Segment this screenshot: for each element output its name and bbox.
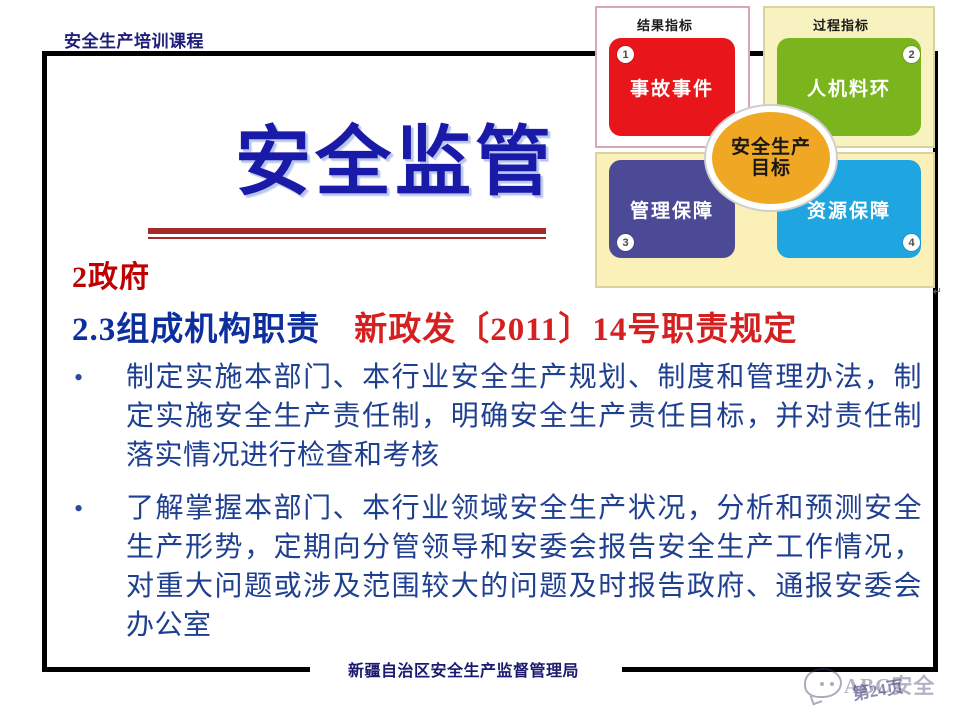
- course-header-label: 安全生产培训课程: [64, 27, 204, 52]
- list-item: • 了解掌握本部门、本行业领域安全生产状况，分析和预测安全生产形势，定期向分管领…: [72, 489, 922, 645]
- diagram-caption-result: 结果指标: [637, 15, 693, 34]
- bullet-marker-icon: •: [72, 358, 126, 397]
- slide-canvas: 安全生产培训课程 安全监管 2政府 2.3组成机构职责新政发〔2011〕14号职…: [0, 0, 960, 720]
- wechat-icon-eye-left: [820, 682, 824, 686]
- diagram-number-badge-4: 4: [903, 234, 920, 251]
- list-item: • 制定实施本部门、本行业安全生产规划、制度和管理办法，制定实施安全生产责任制，…: [72, 358, 922, 475]
- frame-border-bottom-left: [42, 667, 310, 672]
- diagram-center-line1: 安全生产: [731, 137, 811, 158]
- document-reference: 新政发〔2011〕14号职责规定: [354, 312, 797, 348]
- frame-border-left: [42, 51, 47, 672]
- diagram-caption-process: 过程指标: [813, 15, 869, 34]
- diagram-center-line2: 目标: [751, 158, 791, 179]
- diagram-number-badge-1: 1: [617, 46, 634, 63]
- watermark: ABC安全: [800, 662, 940, 706]
- bullet-text: 了解掌握本部门、本行业领域安全生产状况，分析和预测安全生产形势，定期向分管领导和…: [126, 489, 922, 645]
- subsection-heading: 2.3组成机构职责: [72, 312, 320, 348]
- safety-goal-diagram: 结果指标 过程指标 事故事件 人机料环 管理保障 资源保障 1 2 3 4 安全…: [565, 2, 940, 294]
- wechat-icon: [804, 668, 842, 698]
- title-underline-thin: [148, 237, 546, 239]
- diagram-number-badge-3: 3: [617, 234, 634, 251]
- watermark-label: ABC安全: [844, 670, 935, 700]
- subsection-heading-row: 2.3组成机构职责新政发〔2011〕14号职责规定: [72, 302, 797, 350]
- bullet-text: 制定实施本部门、本行业安全生产规划、制度和管理办法，制定实施安全生产责任制，明确…: [126, 358, 922, 475]
- bullet-list: • 制定实施本部门、本行业安全生产规划、制度和管理办法，制定实施安全生产责任制，…: [72, 358, 922, 659]
- title-underline-thick: [148, 228, 546, 234]
- wechat-icon-eye-right: [830, 682, 834, 686]
- page-title: 安全监管: [235, 100, 555, 210]
- section-heading: 2政府: [72, 252, 150, 296]
- diagram-center-goal: 安全生产 目标: [706, 106, 836, 210]
- footer-organization: 新疆自治区安全生产监督管理局: [348, 657, 579, 681]
- diagram-number-badge-2: 2: [903, 46, 920, 63]
- bullet-marker-icon: •: [72, 489, 126, 528]
- diagram-corner-mark: ↵: [933, 285, 942, 298]
